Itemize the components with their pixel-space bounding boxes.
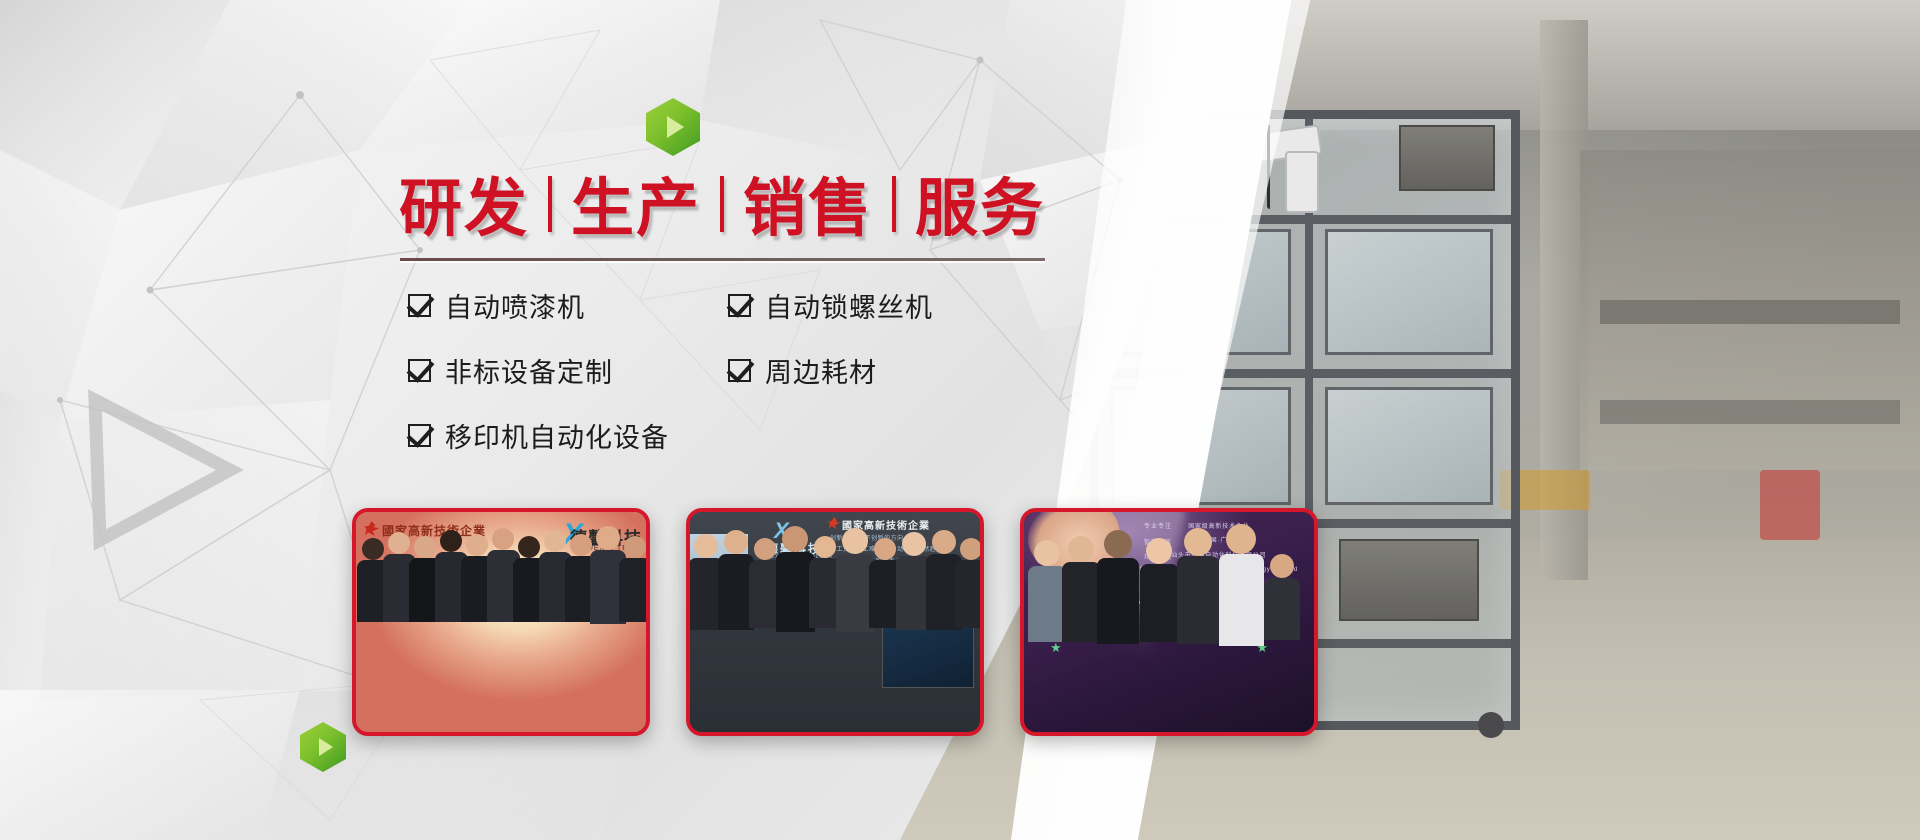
person — [570, 534, 592, 624]
person — [414, 536, 436, 624]
service-item-custom-equipment: 非标设备定制 — [408, 351, 728, 390]
machine-glass-panel-4 — [1325, 387, 1493, 505]
person — [724, 530, 748, 630]
person — [1270, 554, 1294, 640]
photo-shelf-bar — [1600, 300, 1900, 324]
machine-cable-2 — [1267, 125, 1270, 209]
service-label: 自动喷漆机 — [445, 286, 585, 325]
person — [932, 530, 956, 630]
page-title: 研发 生产 销售 服务 — [390, 158, 1054, 249]
person — [874, 538, 896, 630]
service-checklist: 自动喷漆机 自动锁螺丝机 非标设备定制 周边耗材 移印机自动化设备 — [408, 286, 1048, 455]
machine-lower-unit-right — [1339, 539, 1479, 621]
service-item-auto-screw: 自动锁螺丝机 — [728, 286, 1048, 325]
photo-card-company-booth[interactable]: X 德馨科技 DEXIN TECHNOLOGY 國家高新技術企業 创新驱动 永不… — [686, 508, 984, 736]
person — [842, 528, 868, 630]
service-item-pad-printer: 移印机自动化设备 — [408, 416, 728, 455]
service-label: 移印机自动化设备 — [445, 416, 669, 455]
hexagon-play-icon — [646, 98, 700, 156]
person — [440, 530, 462, 624]
person — [694, 534, 718, 630]
machine-glass-panel-3 — [1111, 387, 1291, 505]
photo-card-list: 國家高新技術企業 X 德馨科技 DEXIN TECH 德馨缔造 — [352, 508, 1318, 736]
service-item-auto-spray: 自动喷漆机 — [408, 286, 728, 325]
service-label: 非标设备定制 — [445, 351, 613, 390]
photo-card-exhibition-award[interactable]: 國家高新技術企業 X 德馨科技 DEXIN TECH 德馨缔造 — [352, 508, 650, 736]
person — [624, 536, 646, 624]
photo-shelf-bar-2 — [1600, 400, 1900, 424]
person — [362, 538, 384, 624]
machine-caster-right — [1478, 712, 1504, 738]
person — [902, 532, 926, 630]
robot-arm-wrist — [1285, 151, 1319, 213]
service-item-consumables: 周边耗材 — [728, 351, 1048, 390]
title-separator-3 — [892, 176, 896, 232]
title-word-service: 服务 — [906, 158, 1054, 249]
person — [518, 536, 540, 624]
person — [1104, 530, 1132, 640]
title-word-sales: 销售 — [734, 158, 882, 249]
check-box-icon — [728, 359, 751, 382]
person — [960, 538, 982, 630]
machine-cable — [1249, 125, 1252, 195]
star-icon: ★ — [1050, 640, 1062, 656]
person — [388, 532, 410, 624]
person — [814, 536, 836, 630]
photo-red-crate — [1760, 470, 1820, 540]
title-separator-1 — [548, 176, 552, 232]
person — [1226, 524, 1256, 640]
person — [1184, 528, 1212, 640]
promo-banner: 研发 生产 销售 服务 自动喷漆机 自动锁螺丝机 非标设备定制 — [0, 0, 1920, 840]
banner-content: 研发 生产 销售 服务 自动喷漆机 自动锁螺丝机 非标设备定制 — [0, 0, 1120, 840]
hexagon-play-icon — [300, 722, 346, 772]
title-underline — [400, 258, 1045, 261]
person — [466, 534, 488, 624]
check-box-icon — [408, 294, 431, 317]
title-word-production: 生产 — [562, 158, 710, 249]
service-label: 周边耗材 — [765, 351, 877, 390]
person — [1146, 538, 1172, 640]
check-box-icon — [728, 294, 751, 317]
service-label: 自动锁螺丝机 — [765, 286, 933, 325]
card2-monitor — [882, 620, 974, 688]
card2-group-photo-people — [690, 512, 980, 630]
person — [544, 530, 566, 624]
card1-group-photo-people — [356, 512, 646, 624]
person — [754, 538, 776, 630]
machine-glass-panel-2 — [1325, 229, 1493, 355]
card3-group-photo-people — [1024, 512, 1314, 640]
person — [596, 526, 620, 624]
person — [1068, 536, 1094, 640]
person — [492, 528, 514, 624]
machine-module-right — [1399, 125, 1495, 191]
title-word-rd: 研发 — [390, 158, 538, 249]
person — [1034, 540, 1060, 640]
photo-card-intelligence-stage[interactable]: 专业专注 智能高效 环保节能 国家级高新技术企业 中国·广东 汕头市德馨自动化科… — [1020, 508, 1318, 736]
person — [782, 526, 808, 630]
check-box-icon — [408, 359, 431, 382]
title-separator-2 — [720, 176, 724, 232]
check-box-icon — [408, 424, 431, 447]
